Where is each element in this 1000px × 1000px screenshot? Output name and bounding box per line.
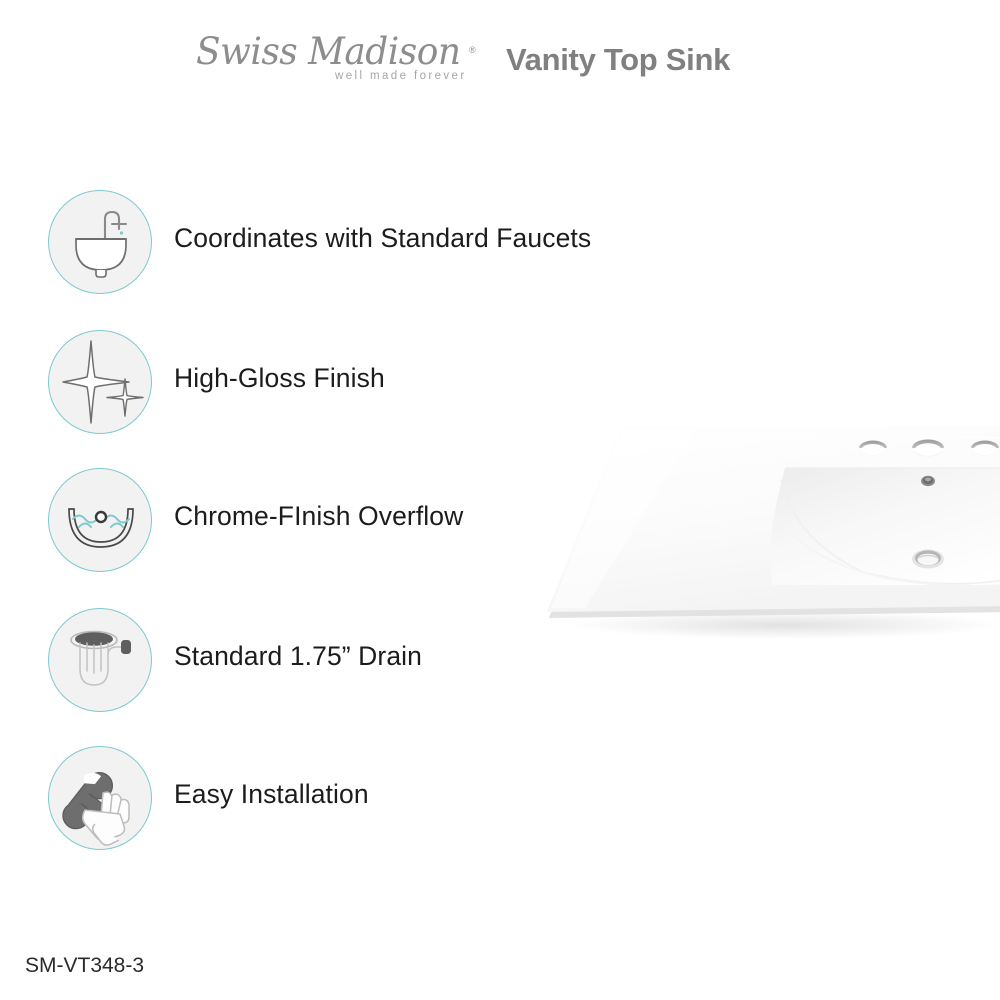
- feature-item-easy-installation: Easy Installation: [48, 746, 560, 854]
- feature-list: Coordinates with Standard Faucets High-G…: [0, 0, 560, 900]
- feature-item-coordinates-with-standard-faucets: Coordinates with Standard Faucets: [48, 190, 560, 298]
- drain-p-trap-icon: [48, 608, 152, 712]
- feature-label: Standard 1.75” Drain: [174, 641, 422, 672]
- hand-wrench-icon: [48, 746, 152, 850]
- feature-item-standard-drain: Standard 1.75” Drain: [48, 608, 560, 716]
- product-feature-sheet: Swiss Madison ® well made forever Vanity…: [0, 0, 1000, 1000]
- feature-item-chrome-finish-overflow: Chrome-FInish Overflow: [48, 468, 560, 576]
- feature-label: High-Gloss Finish: [174, 363, 385, 394]
- feature-label: Coordinates with Standard Faucets: [174, 223, 591, 254]
- sku-label: SM-VT348-3: [25, 954, 144, 978]
- sparkle-shine-icon: [48, 330, 152, 434]
- feature-label: Chrome-FInish Overflow: [174, 501, 463, 532]
- sink-faucet-icon: [48, 190, 152, 294]
- basin-overflow-icon: [48, 468, 152, 572]
- feature-label: Easy Installation: [174, 779, 369, 810]
- feature-item-high-gloss-finish: High-Gloss Finish: [48, 330, 560, 438]
- vanity-top-sink-photo: [545, 420, 1000, 650]
